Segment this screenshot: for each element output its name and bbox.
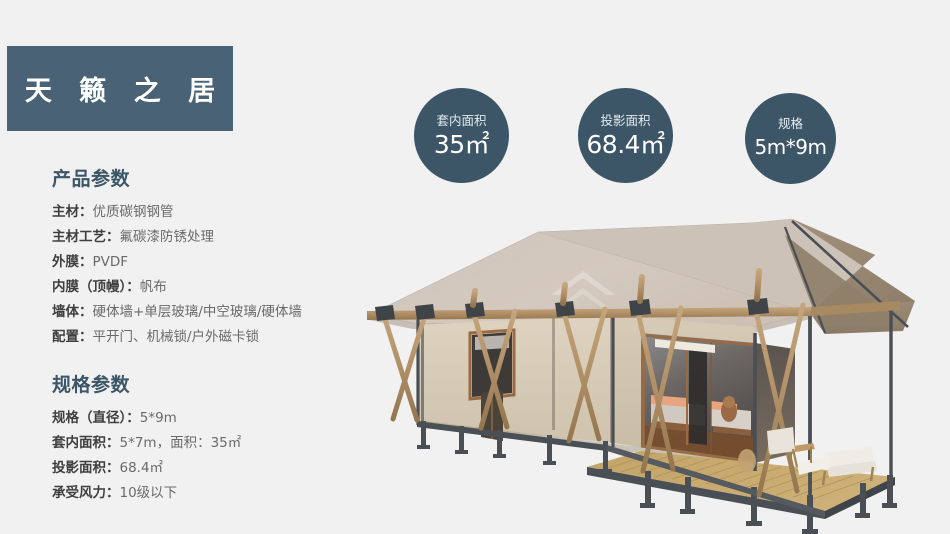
badge-unit: ㎡	[640, 130, 665, 159]
spec-label: 内膜（顶幔）：	[52, 279, 140, 295]
badge-unit: ㎡	[465, 130, 490, 159]
badge-dimensions: 规格 5m*9m	[745, 93, 836, 184]
decor-basket	[738, 449, 756, 473]
spec-label: 外膜：	[52, 254, 93, 270]
spec-value: 5*9m	[140, 410, 177, 426]
spec-label: 投影面积：	[52, 460, 120, 476]
spec-value: 68.4㎡	[120, 460, 164, 476]
spec-label: 墙体：	[52, 304, 93, 320]
spec-label: 规格（直径）：	[52, 410, 140, 426]
spec-row: 配置：平开门、机械锁/户外磁卡锁	[52, 325, 382, 350]
spec-row: 投影面积：68.4㎡	[52, 456, 382, 481]
spec-row: 规格（直径）：5*9m	[52, 406, 382, 431]
badge-number: 35	[434, 130, 465, 159]
badge-projected-area: 投影面积 68.4㎡	[578, 88, 673, 183]
spec-value: 氟碳漆防锈处理	[120, 229, 215, 245]
spec-value: 硬体墙+单层玻璃/中空玻璃/硬体墙	[93, 304, 302, 320]
spec-row: 外膜：PVDF	[52, 250, 382, 275]
badge-value: 35㎡	[434, 130, 489, 159]
spec-column: 产品参数 主材：优质碳钢钢管 主材工艺：氟碳漆防锈处理 外膜：PVDF 内膜（顶…	[52, 166, 382, 506]
badge-value: 68.4㎡	[586, 130, 664, 159]
spec-value: PVDF	[93, 254, 129, 270]
spec-row: 墙体：硬体墙+单层玻璃/中空玻璃/硬体墙	[52, 300, 382, 325]
spec-value: 10级以下	[120, 485, 178, 501]
spec-label: 主材工艺：	[52, 229, 120, 245]
spec-row: 主材工艺：氟碳漆防锈处理	[52, 225, 382, 250]
spec-label: 套内面积：	[52, 435, 120, 451]
product-spec-page: 天 籁 之 居 产品参数 主材：优质碳钢钢管 主材工艺：氟碳漆防锈处理 外膜：P…	[0, 0, 950, 534]
curtain-panel	[689, 345, 707, 445]
badge-number: 5m*9m	[755, 135, 827, 159]
spec-label: 配置：	[52, 329, 93, 345]
spec-value: 平开门、机械锁/户外磁卡锁	[93, 329, 260, 345]
badge-indoor-area: 套内面积 35㎡	[414, 88, 509, 183]
badge-value: 5m*9m	[755, 133, 827, 162]
decor-figure	[721, 396, 737, 422]
wall-seam	[552, 318, 555, 430]
spec-row: 内膜（顶幔）：帆布	[52, 275, 382, 300]
size-params-heading: 规格参数	[52, 372, 382, 398]
spec-value: 帆布	[140, 279, 167, 295]
badge-label: 规格	[778, 116, 803, 132]
stat-badges: 套内面积 35㎡ 投影面积 68.4㎡ 规格 5m*9m	[0, 0, 950, 210]
wall-seam	[421, 323, 424, 423]
badge-number: 68.4	[586, 130, 640, 159]
spec-value: 5*7m，面积：35㎡	[120, 435, 242, 451]
spec-row: 套内面积：5*7m，面积：35㎡	[52, 431, 382, 456]
badge-label: 投影面积	[600, 113, 650, 129]
tent-render-image: 喜乐帐篷 XILE TENT	[355, 215, 950, 534]
spec-label: 承受风力：	[52, 485, 120, 501]
spec-row: 承受风力：10级以下	[52, 481, 382, 506]
badge-label: 套内面积	[436, 113, 486, 129]
